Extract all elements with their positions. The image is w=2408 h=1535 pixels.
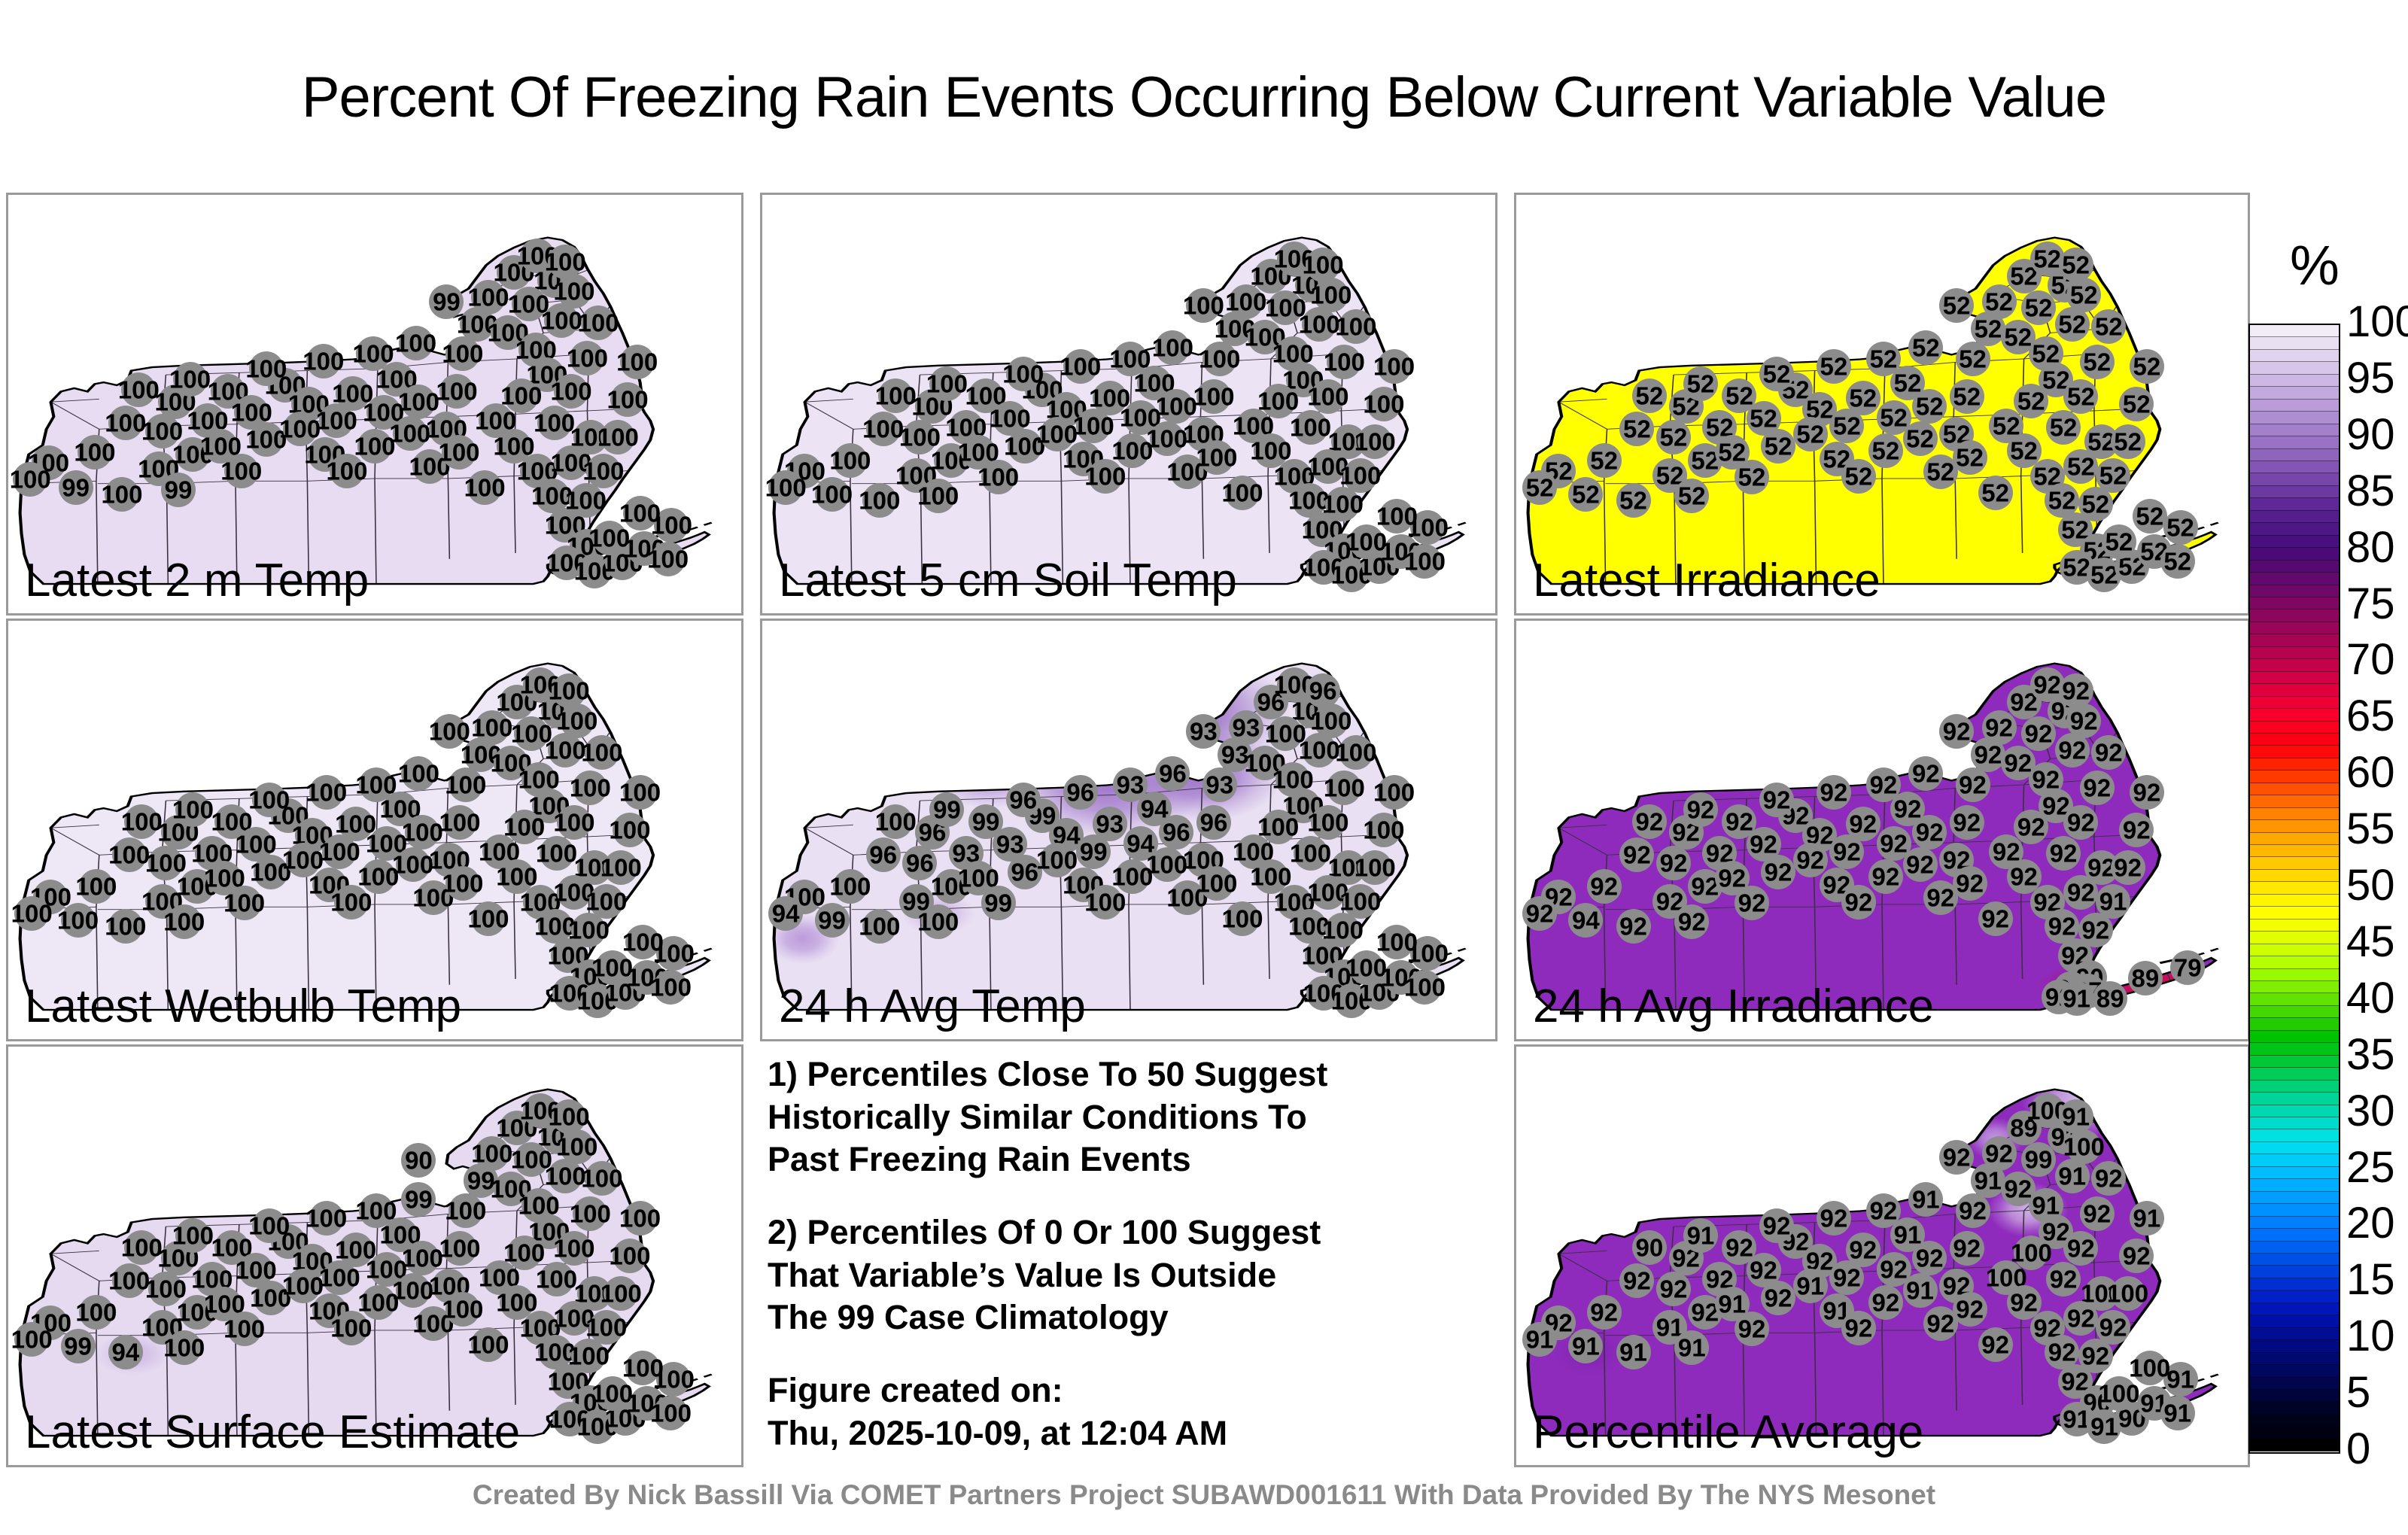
colorbar-segment: [2250, 1278, 2339, 1290]
colorbar-segment: [2250, 746, 2339, 758]
station-value: 92: [1833, 1265, 1861, 1290]
map-panel-latest-5cm-soil-temp[interactable]: 1001001001001001001001001001001001001001…: [760, 193, 1497, 616]
station-value: 92: [1590, 874, 1618, 899]
panel-label-latest-wetbulb-temp: Latest Wetbulb Temp: [25, 980, 461, 1033]
station-value: 100: [1307, 384, 1348, 409]
colorbar-segment: [2250, 1402, 2339, 1414]
station-value: 52: [2090, 562, 2118, 587]
colorbar-segment: [2250, 795, 2339, 807]
station-value: 100: [355, 1198, 397, 1223]
station-value: 100: [1373, 780, 1415, 804]
note1-line-2: Past Freezing Rain Events: [768, 1138, 1490, 1181]
colorbar-segment: [2250, 1415, 2339, 1427]
station-value: 91: [1687, 1223, 1715, 1248]
station-value: 100: [829, 448, 871, 473]
station-value: 100: [1310, 709, 1351, 734]
station-value: 100: [1324, 350, 1365, 375]
station-value: 100: [496, 865, 537, 889]
colorbar-segment: [2250, 1056, 2339, 1068]
station-value: 100: [1002, 361, 1044, 386]
station-value: 100: [326, 458, 367, 483]
colorbar-segment: [2250, 412, 2339, 424]
station-value: 100: [567, 345, 608, 370]
station-value: 100: [549, 679, 590, 704]
station-value: 90: [1636, 1235, 1664, 1260]
station-value: 100: [436, 379, 478, 404]
station-value: 100: [917, 484, 959, 509]
station-value: 91: [1619, 1339, 1647, 1364]
station-value: 92: [2050, 841, 2078, 866]
station-value: 100: [11, 901, 53, 926]
station-value: 100: [101, 482, 142, 506]
station-value: 100: [398, 761, 439, 786]
station-value: 52: [1956, 445, 1984, 470]
colorbar-segment: [2250, 1242, 2339, 1254]
station-value: 92: [1687, 798, 1715, 822]
station-value: 100: [319, 839, 360, 864]
station-value: 100: [600, 856, 642, 880]
station-value: 100: [582, 458, 624, 483]
colorbar-segment: [2250, 337, 2339, 349]
station-value: 52: [2095, 315, 2123, 339]
station-value: 100: [1221, 906, 1263, 931]
colorbar-unit-label: %: [2290, 233, 2340, 297]
station-value: 100: [859, 913, 900, 938]
station-value: 91: [1526, 1327, 1554, 1352]
station-value: 92: [2048, 913, 2076, 938]
station-value: 92: [2067, 810, 2095, 834]
station-value: 100: [1299, 312, 1340, 337]
station-value: 99: [433, 289, 461, 314]
station-value: 52: [1975, 316, 2002, 341]
station-value: 92: [1796, 848, 1824, 873]
station-value: 100: [75, 874, 117, 899]
colorbar-tick-25: 25: [2346, 1142, 2408, 1193]
station-value: 92: [1750, 1258, 1777, 1283]
station-value: 100: [172, 1223, 214, 1248]
station-value: 100: [74, 439, 115, 464]
colorbar-segment: [2250, 697, 2339, 709]
colorbar-segment: [2250, 561, 2339, 573]
station-value: 92: [2010, 1290, 2038, 1315]
map-panel-latest-irradiance[interactable]: 5252525252525252525252525252525252525252…: [1514, 193, 2250, 616]
station-value: 52: [2163, 549, 2191, 574]
station-value: 100: [355, 772, 397, 797]
station-value: 100: [1196, 871, 1237, 896]
colorbar-segment: [2250, 400, 2339, 412]
station-value: 96: [1309, 679, 1337, 704]
station-value: 100: [568, 918, 610, 943]
station-value: 100: [650, 975, 692, 1000]
station-value: 100: [121, 809, 163, 834]
station-value: 92: [1959, 1198, 1987, 1223]
station-value: 52: [1959, 346, 1987, 371]
station-value: 92: [1870, 772, 1898, 797]
station-value: 100: [609, 1244, 650, 1269]
station-value: 100: [395, 331, 436, 356]
station-value: 100: [105, 411, 146, 436]
station-value: 52: [1981, 480, 2009, 505]
station-value: 96: [1163, 819, 1190, 844]
colorbar-segment: [2250, 709, 2339, 721]
colorbar-segment: [2250, 424, 2339, 436]
station-value: 52: [1590, 448, 1618, 473]
station-value: 92: [2081, 918, 2109, 943]
station-value: 92: [2133, 780, 2161, 804]
station-value: 91: [2090, 1414, 2118, 1439]
station-value: 100: [926, 372, 968, 397]
station-value: 52: [2017, 388, 2045, 413]
colorbar-segment: [2250, 1254, 2339, 1266]
station-value: 100: [389, 421, 430, 445]
station-value: 100: [875, 383, 917, 408]
station-value: 92: [2004, 1177, 2032, 1202]
station-value: 100: [570, 776, 611, 801]
notes-gap: [768, 1181, 1490, 1211]
colorbar-segment: [2250, 1340, 2339, 1352]
map-area: 1001001001001001001001001001001001001001…: [8, 621, 741, 1039]
colorbar-segment: [2250, 1427, 2339, 1439]
station-value: 92: [1738, 891, 1766, 916]
station-value: 91: [2099, 889, 2127, 913]
colorbar-tick-80: 80: [2346, 522, 2408, 573]
station-value: 100: [1036, 848, 1078, 873]
station-value: 52: [1660, 425, 1688, 450]
station-value: 92: [1765, 1285, 1792, 1310]
station-value: 100: [1363, 392, 1404, 417]
station-value: 100: [875, 809, 917, 834]
station-value: 52: [1906, 426, 1934, 451]
map-panel-percentile-average[interactable]: 9292929191929292919192929291929292929191…: [1514, 1044, 2250, 1467]
colorbar-segment: [2250, 672, 2339, 684]
station-value: 91: [2063, 1406, 2090, 1431]
colorbar-segment: [2250, 783, 2339, 795]
station-value: 92: [2050, 1267, 2078, 1292]
station-value: 100: [231, 400, 272, 425]
station-value: 100: [248, 787, 290, 812]
map-panel-latest-wetbulb-temp[interactable]: 1001001001001001001001001001001001001001…: [6, 619, 743, 1041]
colorbar-segment: [2250, 449, 2339, 461]
station-value: 92: [1636, 809, 1664, 834]
colorbar-segment: [2250, 1006, 2339, 1018]
station-value: 100: [471, 1141, 512, 1166]
colorbar-segment: [2250, 1081, 2339, 1093]
station-value: 100: [1146, 852, 1187, 877]
station-value: 52: [2083, 350, 2111, 375]
station-value: 100: [282, 1274, 324, 1299]
station-value: 92: [1916, 1245, 1944, 1270]
station-value: 92: [1660, 851, 1688, 876]
station-value: 100: [581, 740, 622, 765]
station-value: 91: [2062, 1105, 2090, 1129]
station-value: 96: [1011, 859, 1038, 884]
note2-line-0: 2) Percentiles Of 0 Or 100 Suggest: [768, 1211, 1490, 1254]
colorbar-segment: [2250, 919, 2339, 932]
station-value: 100: [442, 342, 483, 366]
station-value: 92: [1678, 910, 1706, 935]
station-value: 100: [619, 1205, 661, 1230]
station-value: 100: [1354, 430, 1396, 454]
station-value: 91: [2133, 1205, 2161, 1230]
station-value: 100: [398, 390, 439, 415]
station-value: 100: [616, 350, 658, 375]
colorbar-segment: [2250, 486, 2339, 498]
station-value: 99: [933, 798, 961, 822]
station-value: 52: [1678, 484, 1706, 509]
station-value: 100: [578, 310, 619, 335]
station-value: 90: [405, 1148, 433, 1173]
colorbar-segment: [2250, 1439, 2339, 1451]
colorbar-segment: [2250, 1018, 2339, 1030]
station-value: 92: [1820, 780, 1847, 804]
station-value: 100: [503, 1240, 545, 1265]
station-value: 92: [1981, 906, 2009, 931]
station-value: 100: [223, 1317, 265, 1342]
station-value: 100: [445, 1198, 486, 1223]
station-value: 100: [467, 906, 509, 931]
map-area: 9292929492929292929292929292929292929292…: [1516, 621, 2248, 1039]
station-value: 99: [405, 1187, 433, 1212]
station-value: 100: [556, 709, 597, 734]
coast-dash: [690, 522, 713, 530]
station-value: 52: [2025, 296, 2053, 321]
colorbar-segment: [2250, 1315, 2339, 1327]
station-value: 100: [1225, 289, 1266, 314]
station-value: 92: [2010, 865, 2038, 889]
station-value: 52: [1738, 465, 1766, 490]
station-value: 100: [330, 889, 372, 914]
station-value: 92: [2095, 1166, 2123, 1191]
colorbar-segment: [2250, 833, 2339, 845]
note2-line-2: The 99 Case Climatology: [768, 1296, 1490, 1339]
station-value: 52: [1526, 476, 1554, 500]
map-area: 1001009699100969610099100939993100999699…: [762, 621, 1495, 1039]
station-value: 100: [108, 843, 150, 868]
colorbar-segment: [2250, 1167, 2339, 1179]
station-value: 100: [619, 500, 661, 525]
station-value: 52: [1718, 439, 1746, 464]
station-value: 100: [622, 930, 664, 955]
station-value: 100: [536, 841, 577, 866]
colorbar-segment: [2250, 536, 2339, 548]
station-value: 100: [597, 425, 639, 450]
station-value: 93: [996, 832, 1024, 857]
station-value: 100: [1322, 492, 1364, 517]
station-value: 92: [1953, 1236, 1981, 1260]
station-value: 100: [549, 1105, 590, 1129]
station-value: 100: [1339, 889, 1381, 913]
station-value: 100: [245, 356, 287, 381]
map-panel-latest-2m-temp[interactable]: 1001001009910010010010010099100100100100…: [6, 193, 743, 616]
station-value: 92: [1526, 901, 1554, 926]
station-value: 100: [467, 1332, 509, 1357]
station-value: 93: [1117, 772, 1145, 797]
station-value: 100: [1376, 930, 1418, 955]
station-value: 100: [438, 439, 479, 464]
station-value: 52: [1849, 386, 1877, 411]
station-value: 100: [765, 476, 807, 500]
station-value: 100: [57, 907, 99, 932]
station-value: 93: [1232, 715, 1260, 740]
station-value: 52: [2067, 384, 2095, 409]
station-value: 52: [2099, 463, 2127, 488]
colorbar-segment: [2250, 981, 2339, 993]
station-value: 100: [316, 409, 357, 433]
station-value: 100: [442, 871, 483, 896]
station-value: 100: [439, 810, 480, 834]
panel-label-latest-2m-temp: Latest 2 m Temp: [25, 554, 369, 607]
station-value: 92: [2067, 880, 2095, 905]
colorbar-segment: [2250, 1365, 2339, 1377]
colorbar-segment: [2250, 375, 2339, 387]
colorbar-tick-70: 70: [2346, 634, 2408, 685]
station-value: 52: [1763, 361, 1791, 386]
colorbar-segment: [2250, 461, 2339, 473]
station-value: 52: [2010, 439, 2038, 464]
colorbar-tick-55: 55: [2346, 804, 2408, 854]
station-value: 100: [1324, 776, 1365, 801]
station-value: 100: [1257, 814, 1299, 839]
colorbar-segment: [2250, 1390, 2339, 1402]
station-value: 92: [1981, 1332, 2009, 1357]
station-value: 92: [1590, 1300, 1618, 1325]
station-value: 91: [2166, 1367, 2194, 1392]
station-value: 100: [402, 819, 443, 844]
station-value: 100: [319, 1265, 360, 1290]
station-value: 100: [609, 818, 650, 843]
station-value: 52: [1687, 372, 1715, 397]
station-value: 100: [1250, 865, 1291, 889]
station-value: 92: [1912, 761, 1940, 786]
station-value: 100: [236, 832, 277, 857]
station-value: 52: [1619, 488, 1647, 512]
station-value: 100: [121, 1235, 163, 1260]
colorbar-segment: [2250, 907, 2339, 919]
station-value: 92: [2062, 679, 2090, 704]
station-value: 100: [585, 889, 627, 913]
station-value: 100: [2098, 1381, 2139, 1406]
station-value: 100: [353, 342, 394, 366]
station-value: 100: [163, 910, 205, 935]
station-value: 52: [2048, 488, 2076, 512]
station-value: 100: [236, 1258, 277, 1283]
station-value: 92: [1845, 1315, 1873, 1340]
station-value: 100: [553, 278, 594, 303]
station-value: 100: [496, 1290, 537, 1315]
station-value: 92: [1660, 1277, 1688, 1302]
station-value: 52: [2004, 325, 2032, 350]
map-panel-24h-avg-irradiance[interactable]: 9292929492929292929292929292929292929292…: [1514, 619, 2250, 1041]
colorbar-tick-45: 45: [2346, 916, 2408, 967]
station-value: 100: [536, 1267, 577, 1292]
colorbar-segment: [2250, 1378, 2339, 1390]
colorbar-segment: [2250, 634, 2339, 646]
station-value: 99: [165, 477, 193, 502]
station-value: 100: [1373, 354, 1415, 378]
station-value: 93: [1206, 772, 1233, 797]
station-value: 92: [2067, 1306, 2095, 1331]
station-value: 100: [163, 1336, 205, 1360]
colorbar-tick-85: 85: [2346, 466, 2408, 516]
station-value: 100: [581, 1166, 622, 1191]
station-value: 92: [2025, 722, 2053, 746]
created-on-label: Figure created on:: [768, 1369, 1490, 1412]
station-value: 100: [545, 1164, 586, 1189]
colorbar-segment: [2250, 1303, 2339, 1315]
colorbar-segment: [2250, 511, 2339, 523]
station-value: 100: [503, 814, 545, 839]
station-value: 100: [1404, 549, 1446, 574]
station-value: 89: [2096, 986, 2124, 1011]
station-value: 100: [1250, 439, 1291, 464]
station-value: 52: [1985, 289, 2013, 314]
station-value: 92: [1880, 1257, 1908, 1281]
station-value: 100: [545, 249, 586, 274]
station-value: 100: [220, 458, 262, 483]
map-panel-24h-avg-temp[interactable]: 1001009699100969610099100939993100999699…: [760, 619, 1497, 1041]
coast-dash: [2197, 522, 2220, 530]
colorbar-segment: [2250, 1204, 2339, 1216]
station-value: 100: [1036, 422, 1078, 447]
station-value: 92: [1985, 715, 2013, 740]
colorbar-segment: [2250, 895, 2339, 907]
station-value: 100: [10, 467, 51, 492]
colorbar-segment: [2250, 993, 2339, 1005]
station-value: 100: [551, 379, 592, 404]
station-value: 52: [1623, 417, 1651, 442]
station-value: 92: [2099, 1315, 2127, 1339]
station-value: 94: [111, 1339, 139, 1364]
station-value: 92: [1619, 913, 1647, 938]
map-panel-latest-surface-estimate[interactable]: 1001001009994100100100100100100100100100…: [6, 1044, 743, 1467]
station-value: 100: [75, 1300, 117, 1325]
station-value: 92: [2083, 776, 2111, 801]
station-value: 99: [64, 1333, 92, 1358]
station-value: 100: [1146, 426, 1187, 451]
station-value: 100: [811, 482, 853, 506]
station-value: 99: [1080, 839, 1108, 864]
station-value: 100: [1376, 504, 1418, 529]
station-value: 92: [1985, 1141, 2013, 1166]
station-value: 100: [330, 1315, 372, 1340]
station-value: 100: [1322, 918, 1364, 943]
colorbar-segment: [2250, 585, 2339, 597]
colorbar-segment: [2250, 1117, 2339, 1129]
station-value: 100: [464, 476, 506, 500]
colorbar-segment: [2250, 647, 2339, 659]
station-value: 92: [1738, 1317, 1766, 1342]
station-value: 100: [1363, 818, 1404, 843]
station-value: 100: [471, 715, 512, 740]
colorbar-segment: [2250, 932, 2339, 944]
station-value: 100: [118, 377, 160, 402]
station-value: 92: [1623, 843, 1651, 868]
map-area: 1001001009910010010010010099100100100100…: [8, 195, 741, 613]
colorbar-tick-5: 5: [2346, 1367, 2408, 1418]
panel-label-24h-avg-temp: 24 h Avg Temp: [779, 980, 1086, 1033]
station-value: 52: [2070, 283, 2098, 308]
station-value: 92: [1943, 719, 1971, 744]
station-value: 96: [906, 851, 934, 876]
station-value: 100: [467, 285, 509, 310]
station-value: 100: [565, 488, 607, 512]
station-value: 52: [1953, 384, 1981, 409]
colorbar-tick-50: 50: [2346, 860, 2408, 910]
station-value: 96: [1009, 787, 1037, 812]
station-value: 52: [2105, 530, 2133, 555]
station-value: 100: [303, 349, 344, 374]
station-value: 96: [1200, 810, 1228, 834]
